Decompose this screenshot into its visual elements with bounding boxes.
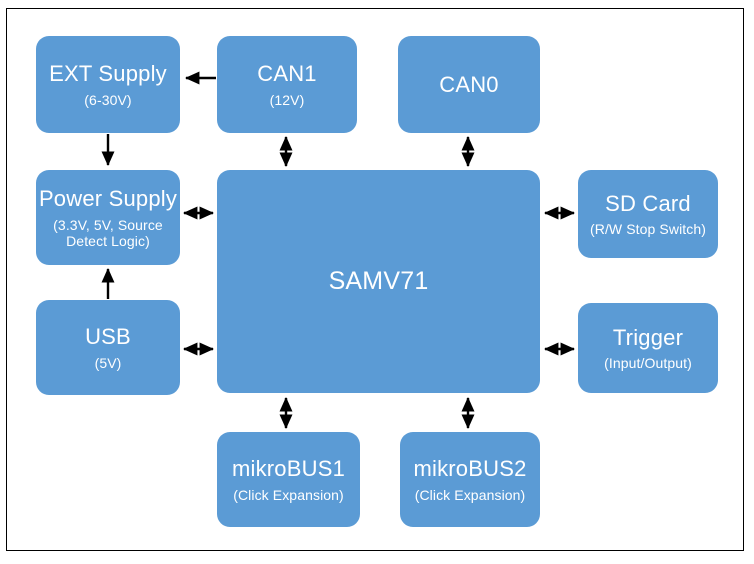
node-mikrobus2-title: mikroBUS2 bbox=[413, 456, 526, 481]
node-samv71[interactable]: SAMV71 bbox=[217, 170, 540, 393]
node-trigger-title: Trigger bbox=[613, 325, 683, 350]
node-can1[interactable]: CAN1 (12V) bbox=[217, 36, 357, 133]
node-usb-subtitle: (5V) bbox=[95, 355, 122, 371]
node-usb[interactable]: USB (5V) bbox=[36, 300, 180, 395]
node-mikrobus1-title: mikroBUS1 bbox=[232, 456, 345, 481]
node-sd-card-subtitle: (R/W Stop Switch) bbox=[590, 221, 706, 237]
node-trigger-subtitle: (Input/Output) bbox=[604, 355, 692, 371]
node-sd-card-title: SD Card bbox=[605, 191, 691, 216]
node-ext-supply-subtitle: (6-30V) bbox=[84, 92, 131, 108]
node-mikrobus2-subtitle: (Click Expansion) bbox=[415, 487, 526, 503]
block-diagram-canvas: EXT Supply (6-30V) CAN1 (12V) CAN0 Power… bbox=[0, 0, 754, 564]
node-usb-title: USB bbox=[85, 324, 131, 349]
node-mikrobus1[interactable]: mikroBUS1 (Click Expansion) bbox=[217, 432, 360, 527]
node-power-supply-title: Power Supply bbox=[39, 186, 177, 211]
node-mikrobus1-subtitle: (Click Expansion) bbox=[233, 487, 344, 503]
node-ext-supply-title: EXT Supply bbox=[49, 61, 167, 86]
node-mikrobus2[interactable]: mikroBUS2 (Click Expansion) bbox=[400, 432, 540, 527]
node-power-supply[interactable]: Power Supply (3.3V, 5V, Source Detect Lo… bbox=[36, 170, 180, 265]
node-can0-title: CAN0 bbox=[439, 72, 499, 97]
node-trigger[interactable]: Trigger (Input/Output) bbox=[578, 303, 718, 393]
node-can1-title: CAN1 bbox=[257, 61, 317, 86]
node-ext-supply[interactable]: EXT Supply (6-30V) bbox=[36, 36, 180, 133]
node-can1-subtitle: (12V) bbox=[270, 92, 305, 108]
node-samv71-title: SAMV71 bbox=[329, 267, 429, 296]
node-power-supply-subtitle: (3.3V, 5V, Source Detect Logic) bbox=[42, 217, 174, 249]
node-sd-card[interactable]: SD Card (R/W Stop Switch) bbox=[578, 170, 718, 258]
node-can0[interactable]: CAN0 bbox=[398, 36, 540, 133]
